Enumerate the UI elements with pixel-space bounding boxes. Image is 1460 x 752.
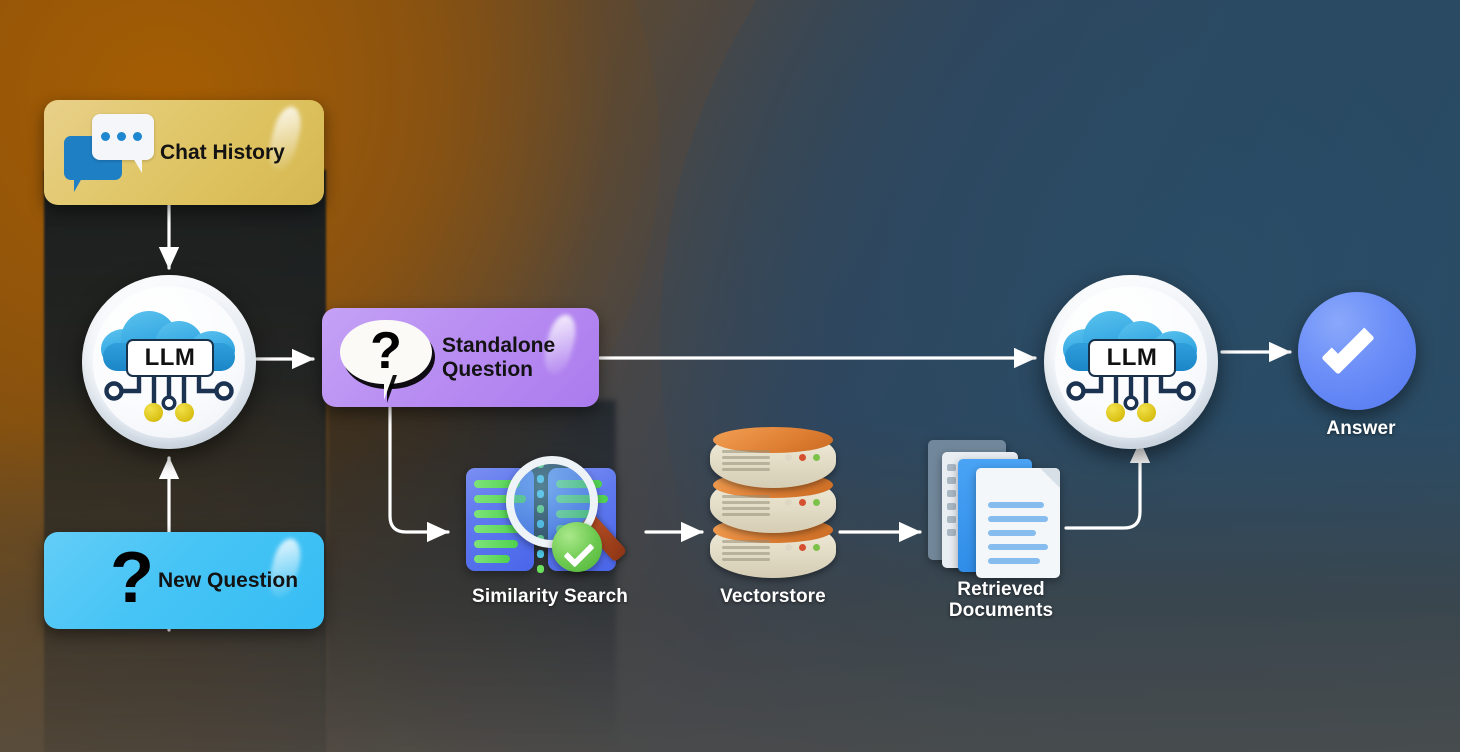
llm-left-label: LLM [126,339,214,377]
node-answer[interactable] [1298,292,1416,410]
node-vectorstore[interactable] [710,430,836,578]
node-similarity-search[interactable] [462,458,642,576]
center-column-shadow [326,400,616,752]
similarity-search-label: Similarity Search [422,586,678,607]
db-disc-top [710,430,836,488]
node-new-question[interactable]: ? New Question [44,532,324,629]
check-circle-icon [1298,292,1416,410]
node-chat-history[interactable]: Chat History [44,100,324,205]
node-dot-left [144,403,163,422]
check-badge-icon [552,522,602,572]
standalone-question-label: Standalone Question [442,334,599,382]
question-mark-glyph: ? [370,325,402,377]
document-page-front [976,468,1060,578]
node-dot-right [1137,403,1156,422]
llm-right-label: LLM [1088,339,1176,377]
node-dot-right [175,403,194,422]
node-retrieved-documents[interactable] [928,440,1068,572]
node-dot-left [1106,403,1125,422]
node-standalone-question[interactable]: ? Standalone Question [322,308,599,407]
question-bubble-icon: ? [340,320,432,384]
retrieved-documents-label: Retrieved Documents [888,579,1114,622]
question-mark-icon: ? [110,542,154,614]
chat-history-label: Chat History [160,141,285,165]
left-column-shadow [44,170,326,752]
node-llm-left[interactable]: LLM [82,275,256,449]
vectorstore-label: Vectorstore [660,586,886,607]
chat-bubbles-icon [64,114,156,190]
new-question-label: New Question [158,569,298,593]
answer-label: Answer [1248,418,1460,439]
diagram-canvas: Chat History LLM ? Standalone Que [0,0,1460,752]
node-llm-right[interactable]: LLM [1044,275,1218,449]
